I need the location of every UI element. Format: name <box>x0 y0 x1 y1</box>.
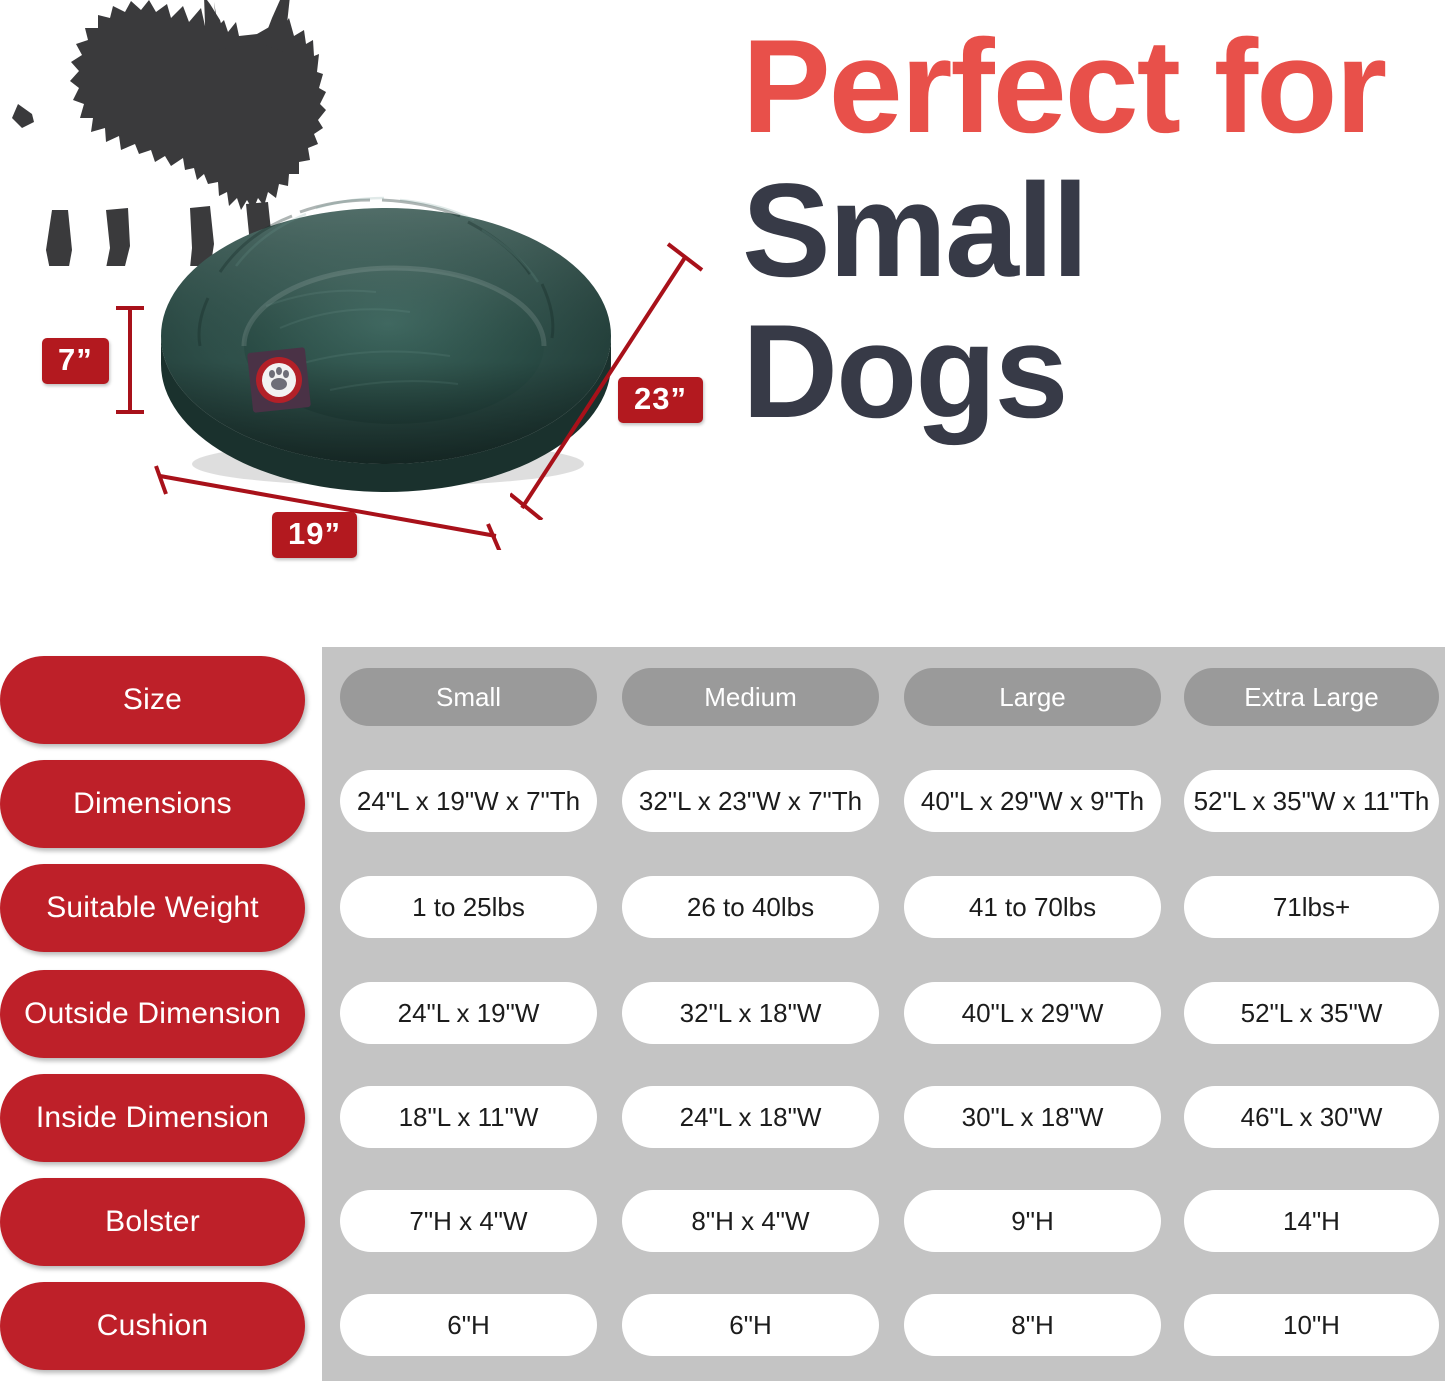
row-label-outside-dimension: Outside Dimension <box>0 970 305 1058</box>
cell-bolster-large: 9"H <box>904 1190 1161 1252</box>
cell-dimensions-small: 24"L x 19"W x 7"Th <box>340 770 597 832</box>
table-row: 7"H x 4"W 8"H x 4"W 9"H 14"H <box>322 1190 1445 1278</box>
cell-bolster-small: 7"H x 4"W <box>340 1190 597 1252</box>
hero-section: Perfect for Small Dogs 7” 19” 23” <box>0 0 1445 640</box>
headline-line-1: Perfect for <box>742 26 1442 148</box>
cell-outside-large: 40"L x 29"W <box>904 982 1161 1044</box>
specification-table: Size Dimensions Suitable Weight Outside … <box>0 640 1445 1381</box>
cell-weight-large: 41 to 70lbs <box>904 876 1161 938</box>
table-row-label-column: Size Dimensions Suitable Weight Outside … <box>0 640 310 1374</box>
table-header-row: Small Medium Large Extra Large <box>322 668 1445 756</box>
headline-line-2: Small <box>742 170 1442 292</box>
row-label-inside-dimension: Inside Dimension <box>0 1074 305 1162</box>
cell-weight-extra-large: 71lbs+ <box>1184 876 1439 938</box>
dimension-badge-width: 19” <box>272 512 357 558</box>
cell-bolster-medium: 8"H x 4"W <box>622 1190 879 1252</box>
table-row: 24"L x 19"W 32"L x 18"W 40"L x 29"W 52"L… <box>322 982 1445 1070</box>
table-row: 18"L x 11"W 24"L x 18"W 30"L x 18"W 46"L… <box>322 1086 1445 1174</box>
cell-cushion-large: 8"H <box>904 1294 1161 1356</box>
column-header-extra-large: Extra Large <box>1184 668 1439 726</box>
headline-line-3: Dogs <box>742 311 1442 433</box>
row-label-size: Size <box>0 656 305 744</box>
cell-outside-extra-large: 52"L x 35"W <box>1184 982 1439 1044</box>
column-header-small: Small <box>340 668 597 726</box>
cell-inside-extra-large: 46"L x 30"W <box>1184 1086 1439 1148</box>
cell-outside-medium: 32"L x 18"W <box>622 982 879 1044</box>
dimension-badge-depth: 23” <box>618 377 703 423</box>
cell-dimensions-large: 40"L x 29"W x 9"Th <box>904 770 1161 832</box>
height-dimension-line <box>110 300 150 420</box>
row-label-cushion: Cushion <box>0 1282 305 1370</box>
table-row: 6"H 6"H 8"H 10"H <box>322 1294 1445 1382</box>
cell-cushion-extra-large: 10"H <box>1184 1294 1439 1356</box>
cell-weight-small: 1 to 25lbs <box>340 876 597 938</box>
row-label-suitable-weight: Suitable Weight <box>0 864 305 952</box>
cell-inside-large: 30"L x 18"W <box>904 1086 1161 1148</box>
row-label-bolster: Bolster <box>0 1178 305 1266</box>
column-header-medium: Medium <box>622 668 879 726</box>
brand-tag <box>247 347 311 413</box>
column-header-large: Large <box>904 668 1161 726</box>
cell-dimensions-extra-large: 52"L x 35"W x 11"Th <box>1184 770 1439 832</box>
row-label-dimensions: Dimensions <box>0 760 305 848</box>
dimension-badge-height: 7” <box>42 338 109 384</box>
table-row: 1 to 25lbs 26 to 40lbs 41 to 70lbs 71lbs… <box>322 876 1445 964</box>
cell-dimensions-medium: 32"L x 23"W x 7"Th <box>622 770 879 832</box>
cell-outside-small: 24"L x 19"W <box>340 982 597 1044</box>
cell-bolster-extra-large: 14"H <box>1184 1190 1439 1252</box>
table-row: 24"L x 19"W x 7"Th 32"L x 23"W x 7"Th 40… <box>322 770 1445 858</box>
page-title: Perfect for Small Dogs <box>742 26 1442 433</box>
cell-cushion-small: 6"H <box>340 1294 597 1356</box>
cell-inside-small: 18"L x 11"W <box>340 1086 597 1148</box>
cell-weight-medium: 26 to 40lbs <box>622 876 879 938</box>
cell-inside-medium: 24"L x 18"W <box>622 1086 879 1148</box>
cell-cushion-medium: 6"H <box>622 1294 879 1356</box>
